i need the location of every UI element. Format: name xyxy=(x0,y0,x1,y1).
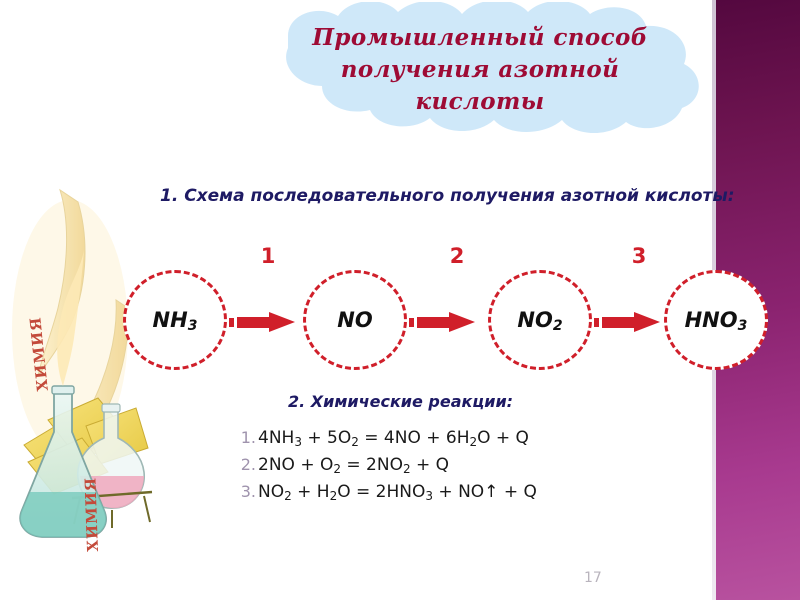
equation-row: 3. NO2 + H2O = 2HNO3 + NO↑ + Q xyxy=(238,482,638,509)
equation-text: NO2 + H2O = 2HNO3 + NO↑ + Q xyxy=(258,482,537,502)
ribbon-label-2: ХИМИЯ xyxy=(81,477,102,552)
equation-text: 4NH3 + 5O2 = 4NO + 6H2O + Q xyxy=(258,428,529,448)
chain-node-hno3-label: HNO3 xyxy=(685,308,748,332)
slide-canvas: ХИМИЯ ХИМИЯ Промышленный способ получени… xyxy=(0,0,800,600)
arrow-right-icon xyxy=(409,311,477,333)
chain-arrow-3 xyxy=(594,311,662,333)
chain-node-no-label: NO xyxy=(337,308,372,332)
equation-row: 1. 4NH3 + 5O2 = 4NO + 6H2O + Q xyxy=(238,428,638,455)
chain-step-1: 1 xyxy=(253,244,283,268)
chain-node-no: NO xyxy=(303,270,407,370)
title-line-2: получения азотной xyxy=(222,54,738,86)
equation-row: 2. 2NO + O2 = 2NO2 + Q xyxy=(238,455,638,482)
page-title: Промышленный способ получения азотной ки… xyxy=(222,22,738,118)
chain-step-3: 3 xyxy=(624,244,654,268)
title-line-3: кислоты xyxy=(222,86,738,118)
chain-arrow-2 xyxy=(409,311,477,333)
arrow-right-icon xyxy=(594,311,662,333)
chain-node-hno3: HNO3 xyxy=(664,270,768,370)
reaction-chain: NH3 1 NO 2 NO2 xyxy=(0,250,800,390)
equation-number: 2. xyxy=(238,455,256,474)
chain-node-no2-label: NO2 xyxy=(517,308,562,332)
chain-node-nh3-label: NH3 xyxy=(153,308,198,332)
reactions-heading: 2. Химические реакции: xyxy=(288,392,513,411)
chain-node-no2: NO2 xyxy=(488,270,592,370)
chain-step-2: 2 xyxy=(442,244,472,268)
title-line-1: Промышленный способ xyxy=(222,22,738,54)
equation-text: 2NO + O2 = 2NO2 + Q xyxy=(258,455,449,475)
chain-node-nh3: NH3 xyxy=(123,270,227,370)
chain-arrow-1 xyxy=(229,311,297,333)
scheme-heading: 1. Схема последовательного получения азо… xyxy=(160,186,735,206)
arrow-right-icon xyxy=(229,311,297,333)
equation-number: 3. xyxy=(238,482,256,501)
equation-number: 1. xyxy=(238,428,256,447)
equation-list: 1. 4NH3 + 5O2 = 4NO + 6H2O + Q 2. 2NO + … xyxy=(238,428,638,509)
title-cloud: Промышленный способ получения азотной ки… xyxy=(222,2,738,138)
page-number: 17 xyxy=(584,570,602,586)
